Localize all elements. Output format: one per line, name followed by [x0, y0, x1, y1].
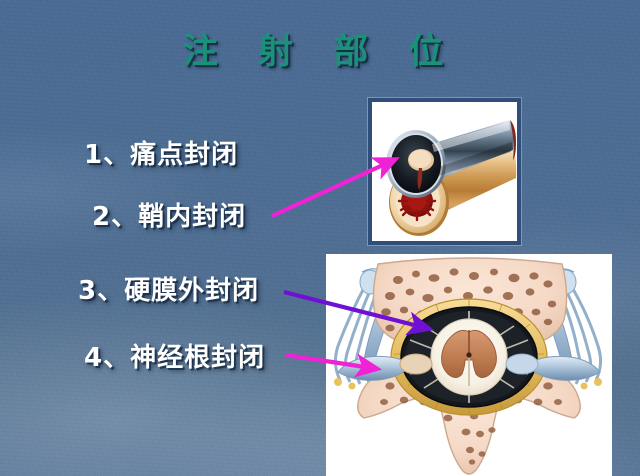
vertebra-spinal-cord-illustration [326, 254, 612, 476]
nerve-root-left-exit [400, 354, 432, 374]
list-item-pain-point-block: 1、痛点封闭 [84, 134, 238, 171]
list-item-intrathecal-block: 2、鞘内封闭 [92, 196, 246, 233]
nerve-sheath-illustration [372, 102, 517, 241]
list-item-nerve-root-block: 4、神经根封闭 [84, 337, 265, 374]
page-title: 注 射 部 位 [0, 23, 640, 74]
nerve-root-right-exit [506, 354, 538, 374]
list-item-epidural-block: 3、硬膜外封闭 [78, 270, 259, 307]
slide-canvas: 注 射 部 位 1、痛点封闭 2、鞘内封闭 3、硬膜外封闭 4、神经根封闭 [0, 0, 640, 476]
nerve-sheath-image-panel [368, 98, 521, 245]
vertebra-image-panel [326, 254, 612, 476]
spinal-cord [431, 319, 507, 395]
